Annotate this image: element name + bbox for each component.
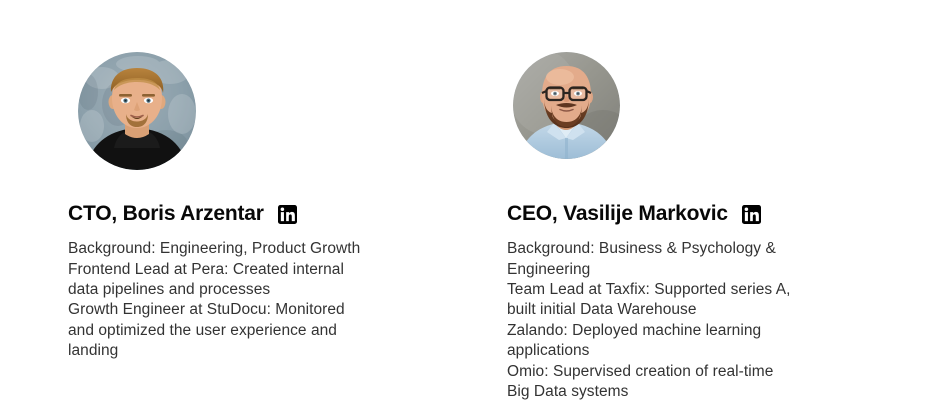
bio-line: Growth Engineer at StuDocu: Monitored: [68, 300, 420, 320]
avatar: [78, 52, 196, 170]
profile-card-cto: CTO, Boris Arzentar Background: Engineer…: [0, 0, 442, 412]
profile-bio: Background: Business & Psychology & Engi…: [507, 239, 857, 402]
linkedin-icon[interactable]: [742, 205, 761, 224]
person-name: CTO, Boris Arzentar: [68, 202, 264, 225]
bio-line: and optimized the user experience and: [68, 321, 420, 341]
bio-line: Background: Business & Psychology &: [507, 239, 857, 259]
bio-line: Engineering: [507, 260, 857, 280]
bio-line: Big Data systems: [507, 382, 857, 402]
profile-card-ceo: CEO, Vasilije Markovic Background: Busin…: [442, 0, 884, 412]
profile-name-row: CTO, Boris Arzentar: [68, 202, 442, 225]
avatar: [513, 52, 620, 159]
linkedin-icon[interactable]: [278, 205, 297, 224]
bio-line: landing: [68, 341, 420, 361]
person-name: CEO, Vasilije Markovic: [507, 202, 728, 225]
bio-line: Background: Engineering, Product Growth: [68, 239, 420, 259]
bio-line: applications: [507, 341, 857, 361]
bio-line: built initial Data Warehouse: [507, 300, 857, 320]
bio-line: Zalando: Deployed machine learning: [507, 321, 857, 341]
bio-line: Team Lead at Taxfix: Supported series A,: [507, 280, 857, 300]
bio-line: data pipelines and processes: [68, 280, 420, 300]
bio-line: Frontend Lead at Pera: Created internal: [68, 260, 420, 280]
profile-bio: Background: Engineering, Product Growth …: [68, 239, 420, 361]
bio-line: Omio: Supervised creation of real-time: [507, 362, 857, 382]
profile-name-row: CEO, Vasilije Markovic: [507, 202, 884, 225]
team-profiles-grid: CTO, Boris Arzentar Background: Engineer…: [0, 0, 948, 412]
